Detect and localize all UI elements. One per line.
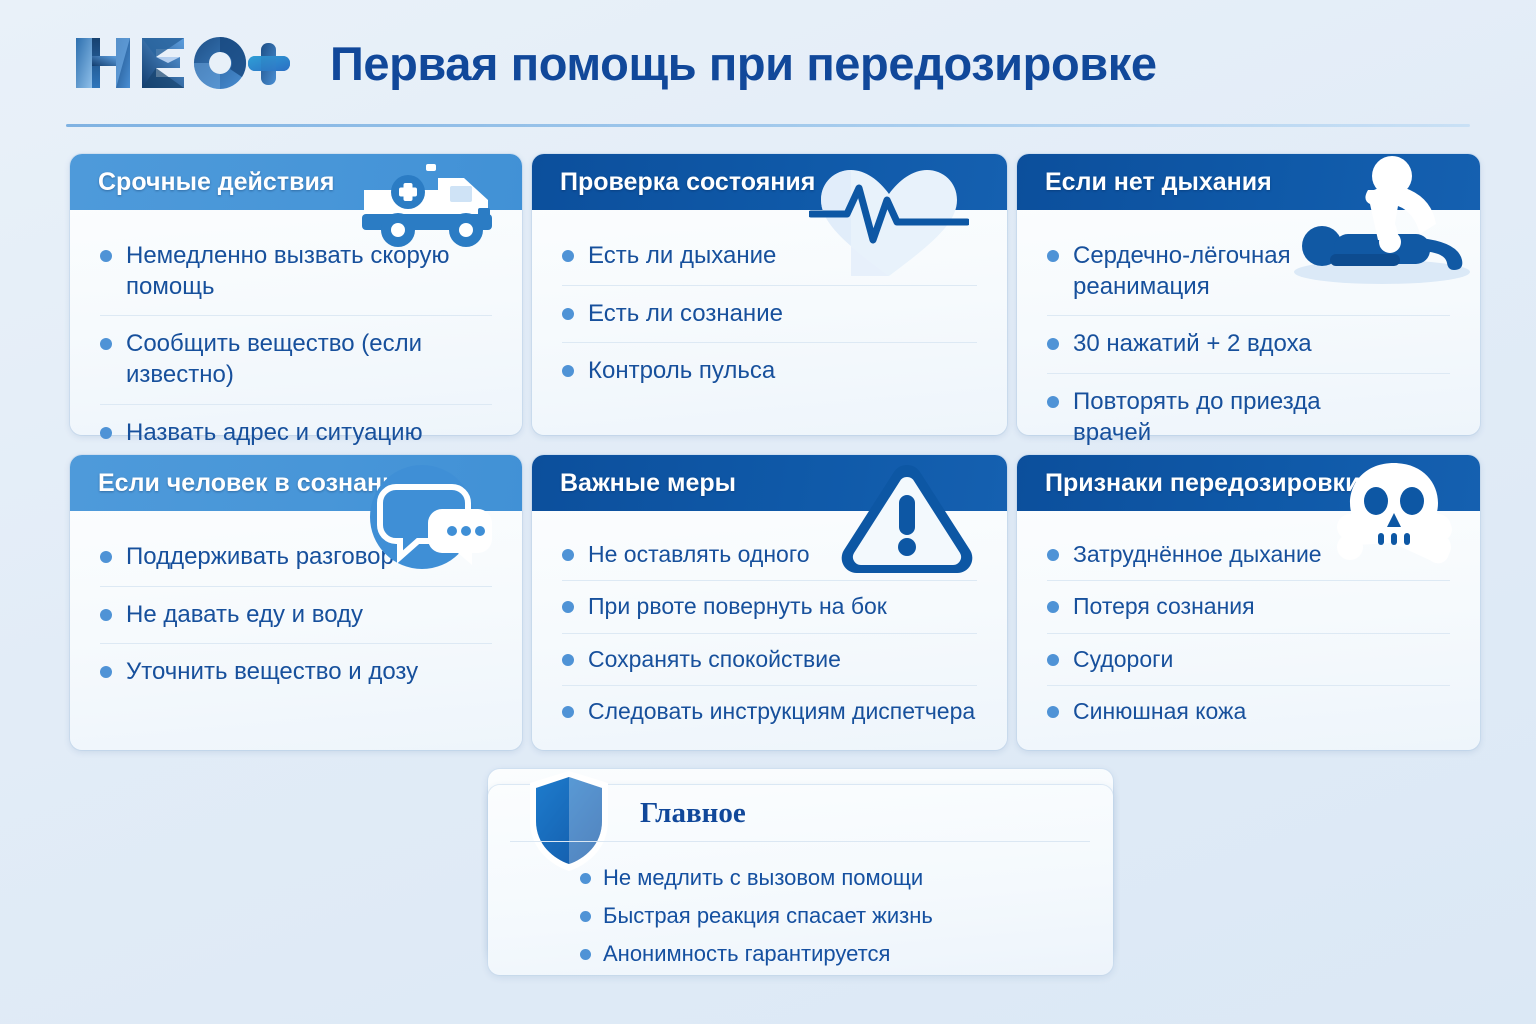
list-item: Синюшная кожа <box>1047 685 1450 737</box>
card-header: Проверка состояния <box>532 154 1007 210</box>
card-body: Сердечно-лёгочная реанимация 30 нажатий … <box>1017 210 1480 462</box>
card-body: Поддерживать разговор Не давать еду и во… <box>70 511 522 701</box>
card-title: Если нет дыхания <box>1045 168 1272 197</box>
card-body: Затруднённое дыхание Потеря сознания Суд… <box>1017 511 1480 738</box>
panel-title: Главное <box>640 797 746 830</box>
bullet-dot <box>100 609 112 621</box>
bullet-dot <box>562 549 574 561</box>
list-item: Есть ли дыхание <box>562 228 977 285</box>
list-item: Немедленно вызвать скорую помощь <box>100 228 492 315</box>
page-title: Первая помощь при передозировке <box>330 36 1157 91</box>
list-item-text: Судороги <box>1073 645 1173 674</box>
bullet-dot <box>562 365 574 377</box>
panel-divider <box>510 841 1090 842</box>
card-condition-check: Проверка состояния Есть ли дыхание Есть … <box>532 154 1007 435</box>
list-item: Сохранять спокойствие <box>562 633 977 685</box>
bullet-dot <box>1047 654 1059 666</box>
card-body: Есть ли дыхание Есть ли сознание Контрол… <box>532 210 1007 400</box>
neo-plus-logo-icon <box>72 32 292 94</box>
card-no-breathing: Если нет дыхания Сердечно-лёгочная реани… <box>1017 154 1480 435</box>
card-person-conscious: Если человек в сознании Поддерживать раз… <box>70 455 522 750</box>
list-item-text: Потеря сознания <box>1073 592 1255 621</box>
list-item-text: Поддерживать разговор <box>126 542 394 573</box>
list-item-text: Не медлить с вызовом помощи <box>603 864 923 892</box>
panel-main-summary: Главное Не медлить с вызовом помощи Быст… <box>488 785 1113 975</box>
bullet-dot <box>580 911 591 922</box>
list-item-text: Быстрая реакция спасает жизнь <box>603 902 933 930</box>
card-title: Признаки передозировки <box>1045 469 1360 498</box>
bullet-dot <box>1047 601 1059 613</box>
list-item: Быстрая реакция спасает жизнь <box>580 897 1113 935</box>
list-item-text: Назвать адрес и ситуацию <box>126 418 423 449</box>
list-item-text: Уточнить вещество и дозу <box>126 657 418 688</box>
card-body: Немедленно вызвать скорую помощь Сообщит… <box>70 210 522 462</box>
card-title: Срочные действия <box>98 168 334 197</box>
bullet-dot <box>1047 549 1059 561</box>
list-item-text: Есть ли дыхание <box>588 241 776 272</box>
list-item-text: При рвоте повернуть на бок <box>588 592 887 621</box>
card-grid: Срочные действия Немедленно вызвать скор… <box>70 154 1470 750</box>
list-item: Есть ли сознание <box>562 285 977 343</box>
list-item: При рвоте повернуть на бок <box>562 580 977 632</box>
list-item-text: Есть ли сознание <box>588 299 783 330</box>
list-item-text: Сообщить вещество (если известно) <box>126 329 492 390</box>
list-item-text: Сохранять спокойствие <box>588 645 841 674</box>
bullet-dot <box>100 250 112 262</box>
card-header: Срочные действия <box>70 154 522 210</box>
list-item-text: 30 нажатий + 2 вдоха <box>1073 329 1312 360</box>
card-title: Проверка состояния <box>560 168 815 197</box>
card-body: Не оставлять одного При рвоте повернуть … <box>532 511 1007 738</box>
card-header: Если нет дыхания <box>1017 154 1480 210</box>
list-item: Потеря сознания <box>1047 580 1450 632</box>
list-item-text: Следовать инструкциям диспетчера <box>588 697 975 726</box>
list-item-text: Не оставлять одного <box>588 540 810 569</box>
list-item: Судороги <box>1047 633 1450 685</box>
list-item: 30 нажатий + 2 вдоха <box>1047 315 1450 373</box>
header-divider <box>66 124 1470 127</box>
bullet-dot <box>100 551 112 563</box>
bullet-dot <box>1047 338 1059 350</box>
bullet-dot <box>100 338 112 350</box>
infographic-page: Первая помощь при передозировке Срочные … <box>0 0 1536 1024</box>
bullet-dot <box>562 654 574 666</box>
list-item-text: Повторять до приезда врачей <box>1073 387 1353 448</box>
card-urgent-actions: Срочные действия Немедленно вызвать скор… <box>70 154 522 435</box>
card-important-measures: Важные меры Не оставлять одного При рвот… <box>532 455 1007 750</box>
bullet-dot <box>562 706 574 718</box>
list-item: Повторять до приезда врачей <box>1047 373 1450 461</box>
list-item: Следовать инструкциям диспетчера <box>562 685 977 737</box>
list-item: Поддерживать разговор <box>100 529 492 586</box>
list-item-text: Контроль пульса <box>588 356 775 387</box>
panel-header: Главное <box>488 785 1113 841</box>
list-item-text: Не давать еду и воду <box>126 600 363 631</box>
bullet-dot <box>1047 250 1059 262</box>
list-item-text: Затруднённое дыхание <box>1073 540 1322 569</box>
list-item: Не медлить с вызовом помощи <box>580 859 1113 897</box>
list-item: Уточнить вещество и дозу <box>100 643 492 701</box>
card-title: Если человек в сознании <box>98 469 413 498</box>
card-header: Важные меры <box>532 455 1007 511</box>
bullet-dot <box>580 873 591 884</box>
list-item: Не оставлять одного <box>562 529 977 580</box>
bullet-dot <box>562 308 574 320</box>
list-item-text: Немедленно вызвать скорую помощь <box>126 241 492 302</box>
list-item: Сообщить вещество (если известно) <box>100 315 492 403</box>
bullet-dot <box>100 427 112 439</box>
bullet-dot <box>562 601 574 613</box>
list-item: Сердечно-лёгочная реанимация <box>1047 228 1450 315</box>
card-header: Если человек в сознании <box>70 455 522 511</box>
list-item-text: Анонимность гарантируется <box>603 940 890 968</box>
list-item: Контроль пульса <box>562 342 977 400</box>
bullet-dot <box>100 666 112 678</box>
bullet-dot <box>580 949 591 960</box>
bullet-dot <box>562 250 574 262</box>
card-header: Признаки передозировки <box>1017 455 1480 511</box>
list-item-text: Синюшная кожа <box>1073 697 1246 726</box>
list-item: Анонимность гарантируется <box>580 935 1113 973</box>
bullet-dot <box>1047 706 1059 718</box>
list-item-text: Сердечно-лёгочная реанимация <box>1073 241 1353 302</box>
page-header: Первая помощь при передозировке <box>0 0 1536 126</box>
card-overdose-signs: Признаки передозировки Затруднённое дыха… <box>1017 455 1480 750</box>
bullet-dot <box>1047 396 1059 408</box>
list-item: Назвать адрес и ситуацию <box>100 404 492 462</box>
list-item: Не давать еду и воду <box>100 586 492 644</box>
card-title: Важные меры <box>560 469 736 498</box>
list-item: Затруднённое дыхание <box>1047 529 1450 580</box>
